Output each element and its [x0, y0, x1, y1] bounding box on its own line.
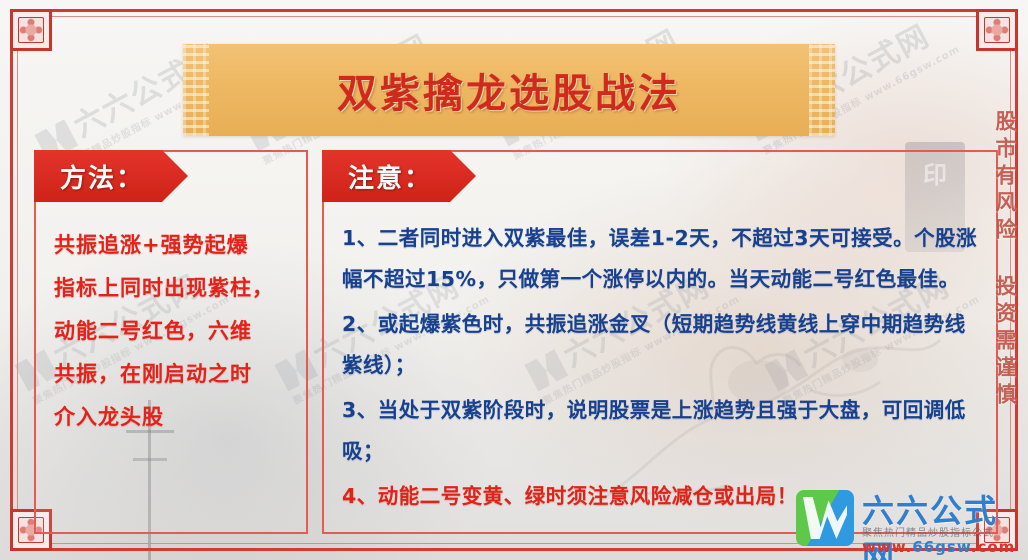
notice-panel: 注意： 1、二者同时进入双紫最佳，误差1-2天，不超过3天可接受。个股涨幅不超过…	[322, 150, 998, 534]
corner-ornament-top-left	[10, 9, 52, 51]
title-banner: 双紫擒龙选股战法	[183, 44, 835, 136]
corner-ornament-top-right	[976, 9, 1018, 51]
method-line: 共振追涨+强势起爆	[54, 224, 294, 267]
site-logo[interactable]: 六六公式网 聚焦热门精品炒股指标公式 www.66gsw.com	[796, 478, 1022, 560]
method-line: 共振，在刚启动之时	[54, 353, 294, 396]
risk-warning-vertical-text: 股市有风险 投资需谨慎	[990, 110, 1020, 440]
ornament-medallion-icon	[984, 17, 1010, 43]
slide-root: 印 六六公式网聚焦热门精品炒股指标 www.66gsw.com 六六公式网聚焦热…	[0, 0, 1028, 560]
logo-url-prefix: www.	[862, 538, 912, 556]
method-line: 介入龙头股	[54, 396, 294, 439]
notice-body: 1、二者同时进入双紫最佳，误差1-2天，不超过3天可接受。个股涨幅不超过15%，…	[342, 218, 978, 521]
notice-item-2: 2、或起爆紫色时，共振追涨金叉（短期趋势线黄线上穿中期趋势线紫线）；	[342, 304, 978, 386]
method-body: 共振追涨+强势起爆 指标上同时出现紫柱， 动能二号红色，六维 共振，在刚启动之时…	[54, 224, 294, 439]
method-panel: 方法： 共振追涨+强势起爆 指标上同时出现紫柱， 动能二号红色，六维 共振，在刚…	[34, 150, 308, 534]
ornament-medallion-icon	[18, 17, 44, 43]
notice-item-3: 3、当处于双紫阶段时，说明股票是上涨趋势且强于大盘，可回调低吸；	[342, 390, 978, 472]
logo-subtitle: 聚焦热门精品炒股指标公式	[862, 524, 994, 539]
method-line: 动能二号红色，六维	[54, 310, 294, 353]
method-tag: 方法：	[34, 150, 188, 202]
method-tag-label: 方法：	[60, 158, 144, 195]
notice-tag-label: 注意：	[348, 158, 432, 195]
logo-mark-icon	[796, 490, 854, 546]
page-title: 双紫擒龙选股战法	[183, 44, 835, 136]
notice-item-1: 1、二者同时进入双紫最佳，误差1-2天，不超过3天可接受。个股涨幅不超过15%，…	[342, 218, 978, 300]
logo-url: www.66gsw.com	[862, 538, 1015, 556]
logo-url-main: 66gsw	[912, 538, 970, 556]
logo-url-suffix: .com	[971, 538, 1016, 556]
method-line: 指标上同时出现紫柱，	[54, 267, 294, 310]
notice-tag: 注意：	[322, 150, 476, 202]
